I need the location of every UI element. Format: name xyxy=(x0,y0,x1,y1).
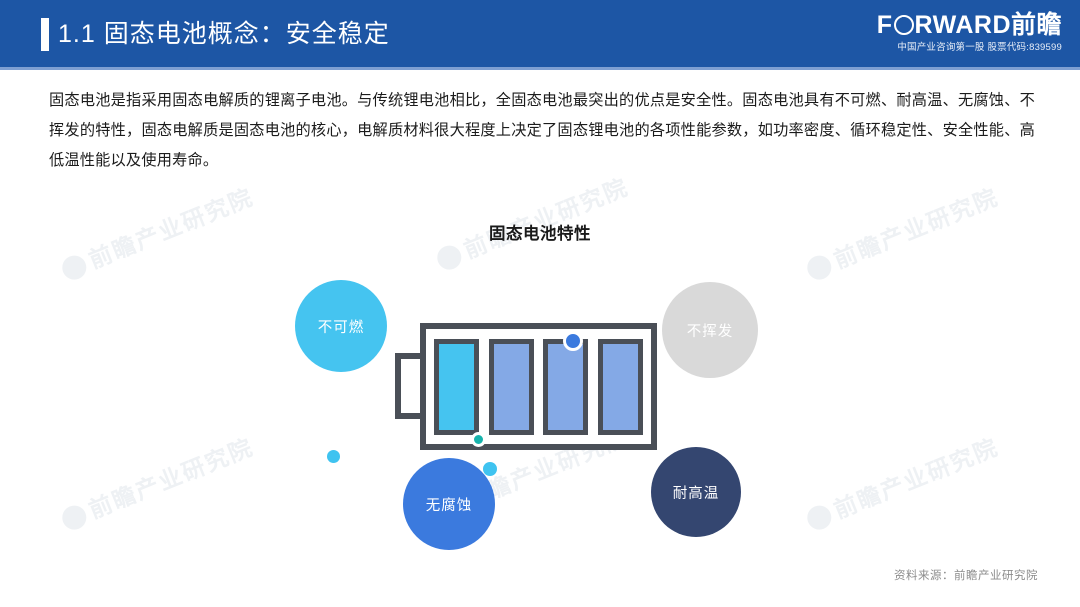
accent-dot-icon xyxy=(471,432,486,447)
feature-label: 不可燃 xyxy=(318,316,365,337)
battery-cell xyxy=(489,339,534,435)
accent-dot-icon xyxy=(563,331,583,351)
header-underline xyxy=(0,67,1080,70)
source-note: 资料来源：前瞻产业研究院 xyxy=(894,567,1038,583)
logo-wordmark-suffix: RWARD前瞻 xyxy=(915,11,1062,39)
feature-label: 耐高温 xyxy=(673,482,720,503)
accent-dot-icon xyxy=(327,450,340,463)
page-header: 1.1 固态电池概念：安全稳定 FRWARD前瞻 中国产业咨询第一股 股票代码:… xyxy=(0,0,1080,67)
brand-logo: FRWARD前瞻 中国产业咨询第一股 股票代码:839599 xyxy=(877,11,1062,54)
slide-page: 1.1 固态电池概念：安全稳定 FRWARD前瞻 中国产业咨询第一股 股票代码:… xyxy=(0,0,1080,607)
battery-cell xyxy=(543,339,588,435)
feature-circle-nonflammable: 不可燃 xyxy=(295,280,387,372)
battery-body xyxy=(420,323,657,450)
figure-title: 固态电池特性 xyxy=(0,220,1080,244)
logo-wordmark-prefix: F xyxy=(877,11,893,39)
logo-globe-icon xyxy=(894,15,914,35)
feature-label: 不挥发 xyxy=(687,320,734,341)
figure-area: 固态电池特性 不可燃 不挥发 无腐蚀 耐高温 xyxy=(0,195,1080,565)
battery-illustration xyxy=(395,323,657,450)
logo-wordmark: FRWARD前瞻 xyxy=(877,11,1062,39)
feature-circle-heatresistant: 耐高温 xyxy=(651,447,741,537)
title-accent-bar xyxy=(41,18,49,51)
battery-cell xyxy=(434,339,479,435)
accent-dot-icon xyxy=(483,462,497,476)
feature-circle-noncorrosive: 无腐蚀 xyxy=(403,458,495,550)
feature-label: 无腐蚀 xyxy=(426,494,473,515)
feature-circle-nonvolatile: 不挥发 xyxy=(662,282,758,378)
logo-subtitle: 中国产业咨询第一股 股票代码:839599 xyxy=(877,41,1062,54)
page-title: 1.1 固态电池概念：安全稳定 xyxy=(58,17,390,51)
battery-cell xyxy=(598,339,643,435)
intro-paragraph: 固态电池是指采用固态电解质的锂离子电池。与传统锂电池相比，全固态电池最突出的优点… xyxy=(49,86,1035,176)
